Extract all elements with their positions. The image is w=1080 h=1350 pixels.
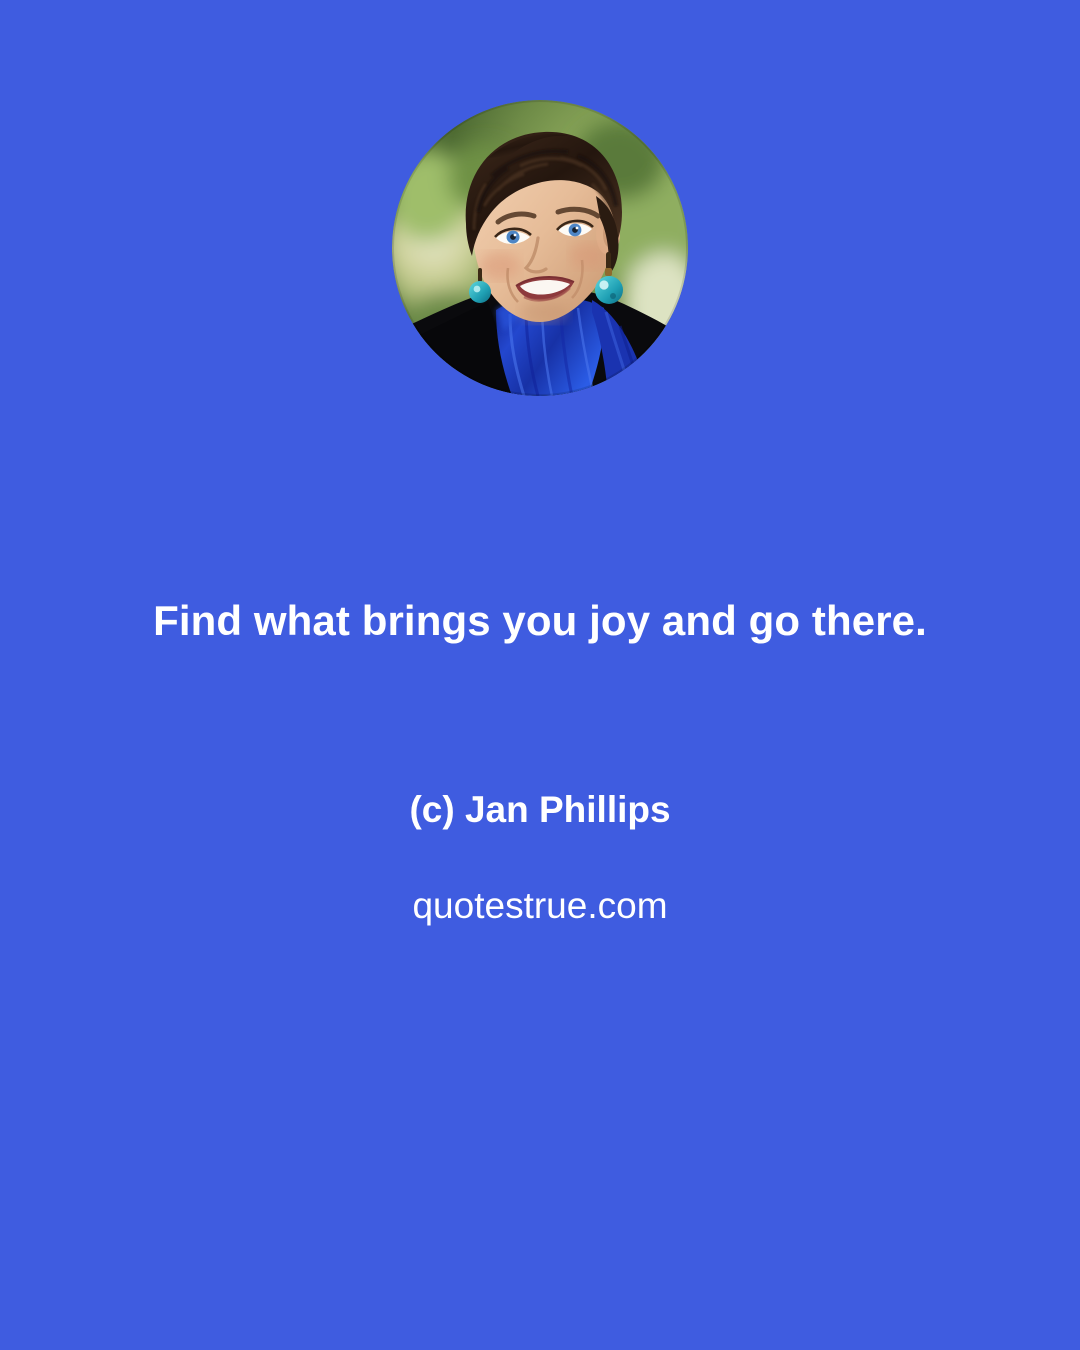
author-portrait-circle xyxy=(392,100,688,396)
quote-text: Find what brings you joy and go there. xyxy=(0,595,1080,647)
source-website: quotestrue.com xyxy=(0,882,1080,930)
author-attribution: (c) Jan Phillips xyxy=(0,786,1080,834)
quote-card: Find what brings you joy and go there. (… xyxy=(0,0,1080,1350)
author-portrait-image xyxy=(392,100,688,396)
